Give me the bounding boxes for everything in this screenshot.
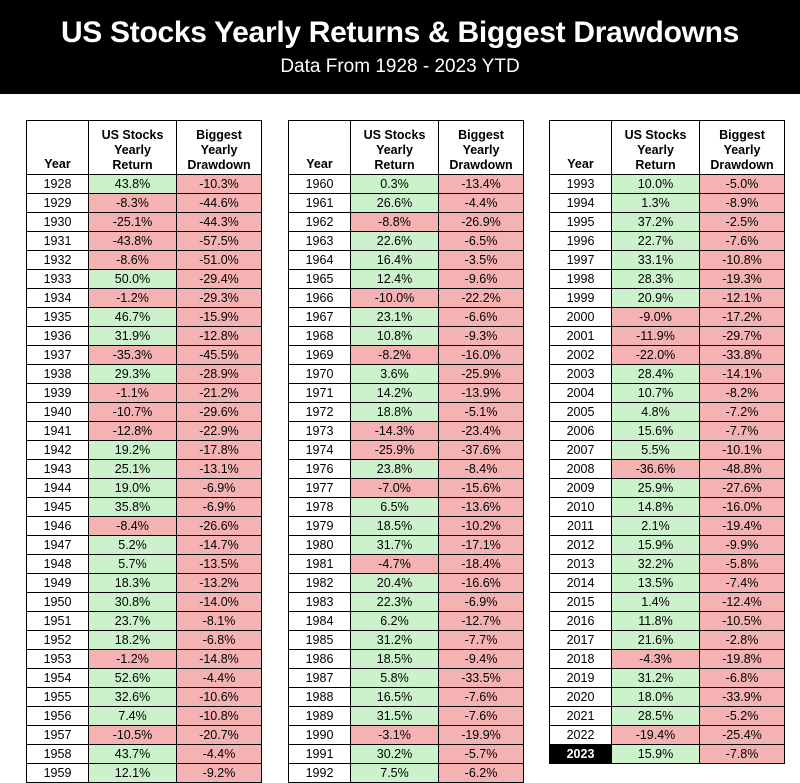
table-row: 1929-8.3%-44.6% — [27, 194, 262, 213]
table-row: 1962-8.8%-26.9% — [289, 213, 524, 232]
table-row: 19941.3%-8.9% — [550, 194, 785, 213]
cell-year: 2007 — [550, 441, 612, 460]
cell-biggest-drawdown: -16.6% — [439, 574, 524, 593]
tables-area: Year US Stocks Yearly Return Biggest Yea… — [0, 94, 800, 768]
cell-biggest-drawdown: -6.6% — [439, 308, 524, 327]
cell-year: 1935 — [27, 308, 89, 327]
column-header-return: US Stocks Yearly Return — [89, 121, 177, 175]
cell-yearly-return: 5.8% — [351, 669, 439, 688]
table-row: 1934-1.2%-29.3% — [27, 289, 262, 308]
cell-year: 1986 — [289, 650, 351, 669]
cell-yearly-return: -14.3% — [351, 422, 439, 441]
cell-biggest-drawdown: -19.3% — [700, 270, 785, 289]
cell-biggest-drawdown: -3.5% — [439, 251, 524, 270]
table-row: 19600.3%-13.4% — [289, 175, 524, 194]
cell-biggest-drawdown: -14.8% — [177, 650, 262, 669]
cell-year: 1952 — [27, 631, 89, 650]
cell-year: 1979 — [289, 517, 351, 536]
cell-yearly-return: 31.9% — [89, 327, 177, 346]
table-row: 19485.7%-13.5% — [27, 555, 262, 574]
cell-yearly-return: 46.7% — [89, 308, 177, 327]
cell-biggest-drawdown: -16.0% — [700, 498, 785, 517]
cell-biggest-drawdown: -15.9% — [177, 308, 262, 327]
cell-biggest-drawdown: -5.7% — [439, 745, 524, 764]
cell-yearly-return: 26.6% — [351, 194, 439, 213]
cell-biggest-drawdown: -13.5% — [177, 555, 262, 574]
header-drawdown-line3: Drawdown — [449, 158, 512, 172]
cell-yearly-return: 10.7% — [612, 384, 700, 403]
cell-biggest-drawdown: -15.6% — [439, 479, 524, 498]
cell-yearly-return: -10.0% — [351, 289, 439, 308]
cell-year: 1936 — [27, 327, 89, 346]
cell-biggest-drawdown: -12.1% — [700, 289, 785, 308]
cell-yearly-return: 6.2% — [351, 612, 439, 631]
cell-biggest-drawdown: -6.9% — [177, 498, 262, 517]
cell-biggest-drawdown: -10.5% — [700, 612, 785, 631]
cell-year: 1930 — [27, 213, 89, 232]
header-return-line3: Return — [635, 158, 675, 172]
cell-year: 1946 — [27, 517, 89, 536]
cell-yearly-return: 15.6% — [612, 422, 700, 441]
header-return-line2: Yearly — [637, 143, 674, 157]
cell-year: 1947 — [27, 536, 89, 555]
cell-biggest-drawdown: -6.9% — [177, 479, 262, 498]
cell-year: 1992 — [289, 764, 351, 783]
cell-year: 1957 — [27, 726, 89, 745]
table-header-row: Year US Stocks Yearly Return Biggest Yea… — [550, 121, 785, 175]
table-row: 200615.6%-7.7% — [550, 422, 785, 441]
cell-biggest-drawdown: -10.8% — [700, 251, 785, 270]
cell-year: 1948 — [27, 555, 89, 574]
cell-biggest-drawdown: -5.0% — [700, 175, 785, 194]
cell-biggest-drawdown: -13.2% — [177, 574, 262, 593]
cell-year: 1971 — [289, 384, 351, 403]
cell-yearly-return: 18.5% — [351, 517, 439, 536]
table-row: 2022-19.4%-25.4% — [550, 726, 785, 745]
table-row: 19927.5%-6.2% — [289, 764, 524, 783]
header-drawdown-line1: Biggest — [196, 128, 242, 142]
cell-year: 2001 — [550, 327, 612, 346]
table-row: 193350.0%-29.4% — [27, 270, 262, 289]
cell-year: 1973 — [289, 422, 351, 441]
cell-biggest-drawdown: -9.9% — [700, 536, 785, 555]
cell-yearly-return: 7.4% — [89, 707, 177, 726]
table-row: 1973-14.3%-23.4% — [289, 422, 524, 441]
cell-year: 1991 — [289, 745, 351, 764]
cell-biggest-drawdown: -9.4% — [439, 650, 524, 669]
cell-biggest-drawdown: -18.4% — [439, 555, 524, 574]
cell-year: 1972 — [289, 403, 351, 422]
table-row: 199733.1%-10.8% — [550, 251, 785, 270]
cell-yearly-return: 35.8% — [89, 498, 177, 517]
title-banner: US Stocks Yearly Returns & Biggest Drawd… — [0, 0, 800, 94]
cell-biggest-drawdown: -13.4% — [439, 175, 524, 194]
cell-year: 2009 — [550, 479, 612, 498]
table-row: 194419.0%-6.9% — [27, 479, 262, 498]
cell-yearly-return: 23.8% — [351, 460, 439, 479]
table-row: 197114.2%-13.9% — [289, 384, 524, 403]
cell-year: 1996 — [550, 232, 612, 251]
returns-table-panel-2: Year US Stocks Yearly Return Biggest Yea… — [288, 120, 524, 783]
cell-biggest-drawdown: -33.9% — [700, 688, 785, 707]
cell-biggest-drawdown: -13.6% — [439, 498, 524, 517]
table-row: 195912.1%-9.2% — [27, 764, 262, 783]
table-body: 19600.3%-13.4%196126.6%-4.4%1962-8.8%-26… — [289, 175, 524, 783]
cell-year: 1965 — [289, 270, 351, 289]
cell-biggest-drawdown: -33.8% — [700, 346, 785, 365]
header-drawdown-line2: Yearly — [201, 143, 238, 157]
cell-yearly-return: 15.9% — [612, 745, 700, 764]
header-return-line1: US Stocks — [102, 128, 164, 142]
table-row: 197218.8%-5.1% — [289, 403, 524, 422]
table-row: 1930-25.1%-44.3% — [27, 213, 262, 232]
cell-biggest-drawdown: -17.8% — [177, 441, 262, 460]
table-row: 2000-9.0%-17.2% — [550, 308, 785, 327]
cell-biggest-drawdown: -19.4% — [700, 517, 785, 536]
cell-biggest-drawdown: -8.1% — [177, 612, 262, 631]
header-drawdown-line1: Biggest — [458, 128, 504, 142]
cell-biggest-drawdown: -44.6% — [177, 194, 262, 213]
table-row: 194535.8%-6.9% — [27, 498, 262, 517]
cell-yearly-return: -25.9% — [351, 441, 439, 460]
cell-year: 1953 — [27, 650, 89, 669]
table-row: 198816.5%-7.6% — [289, 688, 524, 707]
cell-biggest-drawdown: -2.8% — [700, 631, 785, 650]
table-row: 19475.2%-14.7% — [27, 536, 262, 555]
table-row: 197918.5%-10.2% — [289, 517, 524, 536]
header-drawdown-line3: Drawdown — [710, 158, 773, 172]
table-row: 201931.2%-6.8% — [550, 669, 785, 688]
table-row: 1932-8.6%-51.0% — [27, 251, 262, 270]
cell-biggest-drawdown: -6.8% — [177, 631, 262, 650]
cell-biggest-drawdown: -13.9% — [439, 384, 524, 403]
table-row: 200925.9%-27.6% — [550, 479, 785, 498]
cell-year: 2006 — [550, 422, 612, 441]
cell-biggest-drawdown: -5.8% — [700, 555, 785, 574]
cell-year: 1962 — [289, 213, 351, 232]
returns-table: Year US Stocks Yearly Return Biggest Yea… — [549, 120, 785, 764]
cell-year: 1950 — [27, 593, 89, 612]
cell-yearly-return: 1.4% — [612, 593, 700, 612]
cell-biggest-drawdown: -23.4% — [439, 422, 524, 441]
cell-year: 1987 — [289, 669, 351, 688]
cell-yearly-return: -36.6% — [612, 460, 700, 479]
header-return-line3: Return — [112, 158, 152, 172]
cell-year: 2017 — [550, 631, 612, 650]
cell-biggest-drawdown: -7.8% — [700, 745, 785, 764]
cell-biggest-drawdown: -12.7% — [439, 612, 524, 631]
table-row: 196126.6%-4.4% — [289, 194, 524, 213]
table-row: 19567.4%-10.8% — [27, 707, 262, 726]
cell-year: 2000 — [550, 308, 612, 327]
cell-year: 2013 — [550, 555, 612, 574]
cell-biggest-drawdown: -6.8% — [700, 669, 785, 688]
cell-yearly-return: -8.4% — [89, 517, 177, 536]
cell-year: 2005 — [550, 403, 612, 422]
cell-biggest-drawdown: -12.4% — [700, 593, 785, 612]
cell-yearly-return: 22.3% — [351, 593, 439, 612]
cell-yearly-return: 31.7% — [351, 536, 439, 555]
cell-yearly-return: 11.8% — [612, 612, 700, 631]
cell-biggest-drawdown: -10.3% — [177, 175, 262, 194]
cell-yearly-return: 13.5% — [612, 574, 700, 593]
cell-year: 2018 — [550, 650, 612, 669]
table-row: 199537.2%-2.5% — [550, 213, 785, 232]
table-row: 1941-12.8%-22.9% — [27, 422, 262, 441]
column-header-year: Year — [550, 121, 612, 175]
cell-yearly-return: 32.2% — [612, 555, 700, 574]
cell-yearly-return: 14.2% — [351, 384, 439, 403]
cell-year: 1966 — [289, 289, 351, 308]
table-row: 199310.0%-5.0% — [550, 175, 785, 194]
cell-biggest-drawdown: -27.6% — [700, 479, 785, 498]
cell-biggest-drawdown: -9.6% — [439, 270, 524, 289]
cell-biggest-drawdown: -7.7% — [439, 631, 524, 650]
table-row: 1939-1.1%-21.2% — [27, 384, 262, 403]
table-row: 196512.4%-9.6% — [289, 270, 524, 289]
cell-yearly-return: -3.1% — [351, 726, 439, 745]
cell-yearly-return: -1.2% — [89, 289, 177, 308]
cell-yearly-return: 25.9% — [612, 479, 700, 498]
cell-yearly-return: 30.2% — [351, 745, 439, 764]
cell-yearly-return: 43.8% — [89, 175, 177, 194]
cell-year: 1963 — [289, 232, 351, 251]
cell-yearly-return: -8.8% — [351, 213, 439, 232]
cell-biggest-drawdown: -8.2% — [700, 384, 785, 403]
cell-biggest-drawdown: -10.1% — [700, 441, 785, 460]
cell-yearly-return: -4.7% — [351, 555, 439, 574]
table-row: 1974-25.9%-37.6% — [289, 441, 524, 460]
cell-yearly-return: 2.1% — [612, 517, 700, 536]
table-row: 20112.1%-19.4% — [550, 517, 785, 536]
cell-biggest-drawdown: -4.4% — [177, 745, 262, 764]
cell-biggest-drawdown: -29.4% — [177, 270, 262, 289]
header-return-line2: Yearly — [376, 143, 413, 157]
table-row: 19786.5%-13.6% — [289, 498, 524, 517]
cell-year: 2021 — [550, 707, 612, 726]
cell-yearly-return: 20.9% — [612, 289, 700, 308]
table-row: 201014.8%-16.0% — [550, 498, 785, 517]
cell-biggest-drawdown: -4.4% — [439, 194, 524, 213]
cell-year: 1958 — [27, 745, 89, 764]
cell-year: 2014 — [550, 574, 612, 593]
cell-year: 1983 — [289, 593, 351, 612]
page-subtitle: Data From 1928 - 2023 YTD — [0, 54, 800, 80]
cell-year: 1999 — [550, 289, 612, 308]
cell-yearly-return: 0.3% — [351, 175, 439, 194]
table-row: 195218.2%-6.8% — [27, 631, 262, 650]
table-row: 1931-43.8%-57.5% — [27, 232, 262, 251]
table-row: 198031.7%-17.1% — [289, 536, 524, 555]
cell-biggest-drawdown: -16.0% — [439, 346, 524, 365]
header-return-line1: US Stocks — [364, 128, 426, 142]
cell-year: 1942 — [27, 441, 89, 460]
cell-year: 2008 — [550, 460, 612, 479]
cell-yearly-return: 5.5% — [612, 441, 700, 460]
table-row: 199828.3%-19.3% — [550, 270, 785, 289]
cell-yearly-return: -19.4% — [612, 726, 700, 745]
cell-year: 1977 — [289, 479, 351, 498]
cell-year: 1969 — [289, 346, 351, 365]
table-row: 1946-8.4%-26.6% — [27, 517, 262, 536]
table-row: 1953-1.2%-14.8% — [27, 650, 262, 669]
cell-yearly-return: 18.2% — [89, 631, 177, 650]
column-header-year: Year — [289, 121, 351, 175]
cell-biggest-drawdown: -6.5% — [439, 232, 524, 251]
cell-biggest-drawdown: -9.3% — [439, 327, 524, 346]
table-body: 199310.0%-5.0%19941.3%-8.9%199537.2%-2.5… — [550, 175, 785, 764]
cell-yearly-return: -1.2% — [89, 650, 177, 669]
cell-yearly-return: -22.0% — [612, 346, 700, 365]
table-row: 1977-7.0%-15.6% — [289, 479, 524, 498]
table-row: 202018.0%-33.9% — [550, 688, 785, 707]
cell-year: 1949 — [27, 574, 89, 593]
cell-yearly-return: -8.6% — [89, 251, 177, 270]
cell-biggest-drawdown: -21.2% — [177, 384, 262, 403]
header-drawdown-line2: Yearly — [724, 143, 761, 157]
table-row: 195532.6%-10.6% — [27, 688, 262, 707]
table-row: 20075.5%-10.1% — [550, 441, 785, 460]
cell-yearly-return: 23.7% — [89, 612, 177, 631]
cell-biggest-drawdown: -13.1% — [177, 460, 262, 479]
cell-yearly-return: 30.8% — [89, 593, 177, 612]
table-row: 1940-10.7%-29.6% — [27, 403, 262, 422]
table-row: 194918.3%-13.2% — [27, 574, 262, 593]
column-header-drawdown: Biggest Yearly Drawdown — [439, 121, 524, 175]
cell-year: 2019 — [550, 669, 612, 688]
cell-year: 2022 — [550, 726, 612, 745]
table-row: 194325.1%-13.1% — [27, 460, 262, 479]
cell-biggest-drawdown: -17.1% — [439, 536, 524, 555]
cell-biggest-drawdown: -8.9% — [700, 194, 785, 213]
column-header-year: Year — [27, 121, 89, 175]
cell-year: 1993 — [550, 175, 612, 194]
cell-biggest-drawdown: -6.2% — [439, 764, 524, 783]
cell-biggest-drawdown: -29.6% — [177, 403, 262, 422]
cell-yearly-return: -8.3% — [89, 194, 177, 213]
table-row: 1966-10.0%-22.2% — [289, 289, 524, 308]
cell-yearly-return: 32.6% — [89, 688, 177, 707]
table-row: 198322.3%-6.9% — [289, 593, 524, 612]
cell-year: 1951 — [27, 612, 89, 631]
table-header-row: Year US Stocks Yearly Return Biggest Yea… — [27, 121, 262, 175]
cell-biggest-drawdown: -29.3% — [177, 289, 262, 308]
table-row: 198931.5%-7.6% — [289, 707, 524, 726]
table-row: 199920.9%-12.1% — [550, 289, 785, 308]
cell-biggest-drawdown: -19.8% — [700, 650, 785, 669]
cell-biggest-drawdown: -9.2% — [177, 764, 262, 783]
cell-year: 1939 — [27, 384, 89, 403]
column-header-return: US Stocks Yearly Return — [612, 121, 700, 175]
column-header-drawdown: Biggest Yearly Drawdown — [700, 121, 785, 175]
cell-yearly-return: -12.8% — [89, 422, 177, 441]
cell-biggest-drawdown: -7.6% — [439, 707, 524, 726]
cell-biggest-drawdown: -44.3% — [177, 213, 262, 232]
cell-biggest-drawdown: -29.7% — [700, 327, 785, 346]
cell-biggest-drawdown: -22.9% — [177, 422, 262, 441]
cell-yearly-return: 15.9% — [612, 536, 700, 555]
cell-biggest-drawdown: -20.7% — [177, 726, 262, 745]
cell-yearly-return: 12.1% — [89, 764, 177, 783]
table-row: 192843.8%-10.3% — [27, 175, 262, 194]
cell-yearly-return: 23.1% — [351, 308, 439, 327]
cell-biggest-drawdown: -14.7% — [177, 536, 262, 555]
cell-yearly-return: 16.4% — [351, 251, 439, 270]
table-row: 19703.6%-25.9% — [289, 365, 524, 384]
cell-yearly-return: 22.7% — [612, 232, 700, 251]
cell-year: 1978 — [289, 498, 351, 517]
cell-yearly-return: -9.0% — [612, 308, 700, 327]
cell-year: 2002 — [550, 346, 612, 365]
cell-year: 1931 — [27, 232, 89, 251]
table-row: 199622.7%-7.6% — [550, 232, 785, 251]
cell-yearly-return: 4.8% — [612, 403, 700, 422]
table-row: 193546.7%-15.9% — [27, 308, 262, 327]
cell-year: 1944 — [27, 479, 89, 498]
header-drawdown-line1: Biggest — [719, 128, 765, 142]
cell-year: 1954 — [27, 669, 89, 688]
cell-yearly-return: 16.5% — [351, 688, 439, 707]
table-row: 202128.5%-5.2% — [550, 707, 785, 726]
cell-biggest-drawdown: -33.5% — [439, 669, 524, 688]
cell-year: 1982 — [289, 574, 351, 593]
table-row: 201215.9%-9.9% — [550, 536, 785, 555]
table-row: 196723.1%-6.6% — [289, 308, 524, 327]
cell-yearly-return: 43.7% — [89, 745, 177, 764]
cell-year: 1945 — [27, 498, 89, 517]
cell-biggest-drawdown: -48.8% — [700, 460, 785, 479]
cell-yearly-return: 3.6% — [351, 365, 439, 384]
cell-yearly-return: 22.6% — [351, 232, 439, 251]
cell-year: 1998 — [550, 270, 612, 289]
cell-year: 1941 — [27, 422, 89, 441]
cell-yearly-return: 5.7% — [89, 555, 177, 574]
table-header-row: Year US Stocks Yearly Return Biggest Yea… — [289, 121, 524, 175]
cell-biggest-drawdown: -4.4% — [177, 669, 262, 688]
cell-yearly-return: 37.2% — [612, 213, 700, 232]
table-row: 195843.7%-4.4% — [27, 745, 262, 764]
cell-year: 1932 — [27, 251, 89, 270]
cell-yearly-return: -43.8% — [89, 232, 177, 251]
cell-year: 1933 — [27, 270, 89, 289]
table-row: 19846.2%-12.7% — [289, 612, 524, 631]
table-row: 196416.4%-3.5% — [289, 251, 524, 270]
cell-year: 1974 — [289, 441, 351, 460]
cell-year: 1937 — [27, 346, 89, 365]
cell-yearly-return: -11.9% — [612, 327, 700, 346]
cell-yearly-return: 10.0% — [612, 175, 700, 194]
header-drawdown-line2: Yearly — [463, 143, 500, 157]
table-row: 199130.2%-5.7% — [289, 745, 524, 764]
cell-yearly-return: 19.0% — [89, 479, 177, 498]
cell-yearly-return: 5.2% — [89, 536, 177, 555]
table-row: 1937-35.3%-45.5% — [27, 346, 262, 365]
column-header-drawdown: Biggest Yearly Drawdown — [177, 121, 262, 175]
table-row: 198531.2%-7.7% — [289, 631, 524, 650]
table-row: 19875.8%-33.5% — [289, 669, 524, 688]
cell-yearly-return: 18.8% — [351, 403, 439, 422]
cell-year: 1934 — [27, 289, 89, 308]
cell-year: 1929 — [27, 194, 89, 213]
cell-yearly-return: 50.0% — [89, 270, 177, 289]
cell-biggest-drawdown: -10.8% — [177, 707, 262, 726]
cell-yearly-return: 28.4% — [612, 365, 700, 384]
cell-year-highlighted: 2023 — [550, 745, 612, 764]
cell-biggest-drawdown: -51.0% — [177, 251, 262, 270]
cell-yearly-return: 33.1% — [612, 251, 700, 270]
table-row: 1990-3.1%-19.9% — [289, 726, 524, 745]
cell-biggest-drawdown: -8.4% — [439, 460, 524, 479]
